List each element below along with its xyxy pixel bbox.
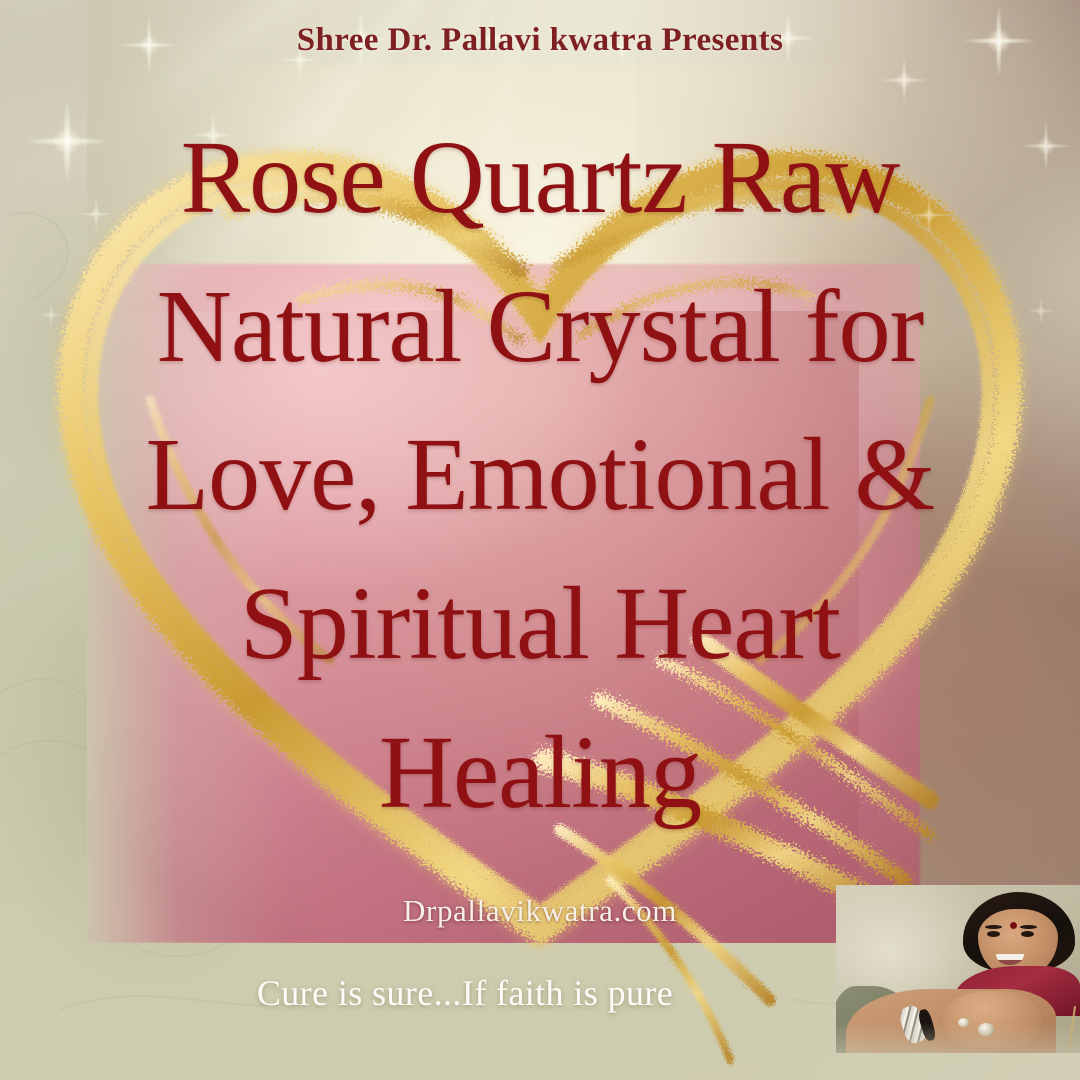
portrait-fade (836, 885, 1080, 1053)
sparkle-star-icon (880, 56, 928, 104)
headline-line-5: Healing (0, 699, 1080, 848)
promo-poster: Shree Dr. Pallavi kwatra Presents Rose Q… (0, 0, 1080, 1080)
headline-line-2: Natural Crystal for (0, 253, 1080, 402)
headline-line-3: Love, Emotional & (0, 401, 1080, 550)
presenter-line: Shree Dr. Pallavi kwatra Presents (0, 22, 1080, 59)
headline-line-1: Rose Quartz Raw (0, 104, 1080, 253)
page-title: Rose Quartz Raw Natural Crystal for Love… (0, 104, 1080, 848)
avatar (836, 885, 1080, 1053)
headline-line-4: Spiritual Heart (0, 550, 1080, 699)
